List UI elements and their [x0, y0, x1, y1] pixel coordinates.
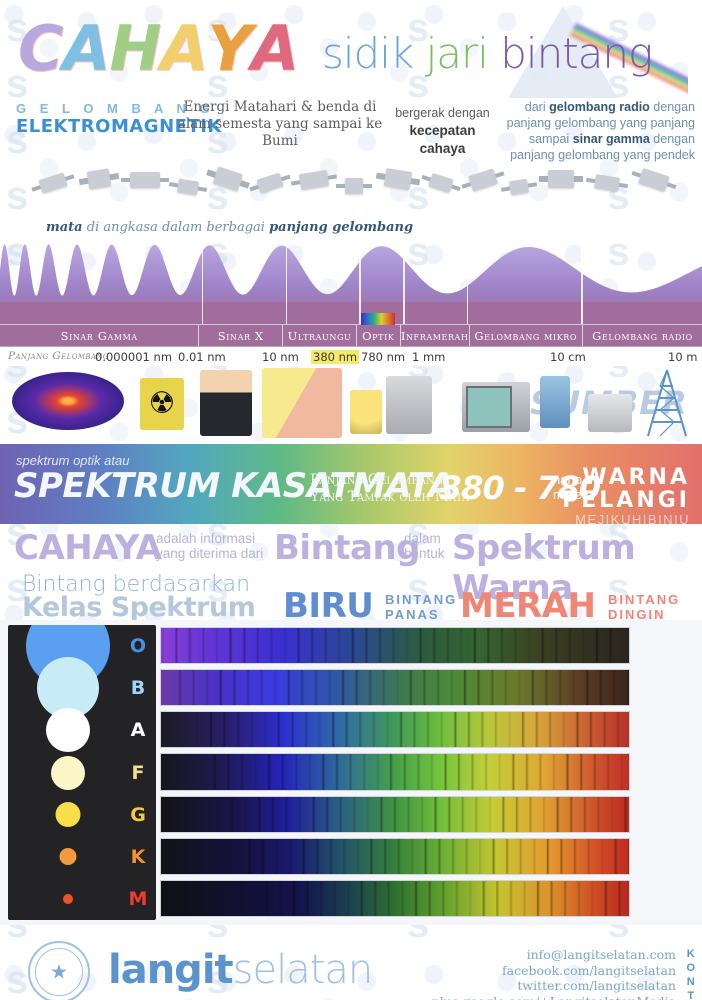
contact-line[interactable]: info@langitselatan.com	[432, 947, 676, 963]
title-letter: A	[63, 18, 110, 80]
statement-text: dalam	[404, 531, 441, 546]
contact-line[interactable]: twitter.com/langitselatan	[432, 978, 676, 994]
mobile-phone-icon	[540, 376, 570, 428]
statement-text: yang diterima dari	[156, 546, 263, 561]
band-label: Gelombang radio	[592, 329, 693, 343]
spectrum-bar-G	[160, 796, 630, 833]
statement-text: bentuk	[404, 546, 445, 561]
wavelength-scale-title: Panjang Gelombang	[8, 350, 109, 362]
kasat-mejikuhibiniu: MEJIKUHIBINIU	[562, 512, 690, 524]
band-divider-tick	[403, 232, 405, 324]
gamma-sky-map-icon	[12, 372, 124, 430]
spectral-class-label-B: B	[131, 677, 145, 699]
sat-caption-pre: mata	[46, 220, 83, 235]
title-letter: C	[18, 18, 63, 80]
kontak-letter: K	[686, 947, 695, 961]
spectrum-bar-B	[160, 669, 630, 706]
star-size-circle-K	[60, 848, 77, 865]
sources-row: SUMBER ☢	[0, 366, 702, 444]
wave-band-ticks	[0, 224, 702, 324]
spectrum-band-bar: Sinar GammaSinar XUltraunguOptikInframer…	[0, 324, 702, 346]
intro-col4-bold1: gelombang radio	[549, 100, 650, 114]
intro-col4-bold2: sinar gamma	[573, 132, 650, 146]
statement-row-2: Bintang berdasarkanKelas SpektrumBIRUBIN…	[0, 572, 702, 620]
electromagnetic-wave-band	[0, 224, 702, 324]
kasat-rainbow-block: WARNA PELANGI MEJIKUHIBINIU	[562, 466, 690, 524]
satellite-icon	[299, 170, 329, 190]
microwave-oven-icon	[462, 382, 530, 432]
title-letter: Y	[207, 18, 251, 80]
band-divider-tick	[581, 232, 583, 324]
absorption-lines	[161, 712, 629, 747]
statement-text: adalah informasi	[156, 531, 255, 546]
spectrum-bars-panel	[160, 625, 630, 920]
wavelength-tick: 780 nm	[361, 350, 405, 364]
satellite-icon	[87, 168, 112, 189]
wavelength-tick: 10 cm	[550, 350, 586, 364]
title-letter: A	[160, 18, 207, 80]
band-cell-gelombang-mikro: Gelombang mikro	[470, 325, 583, 346]
star-size-circle-G	[56, 802, 81, 827]
contact-list: info@langitselatan.comfacebook.com/langi…	[432, 947, 676, 1000]
band-label: Sinar Gamma	[61, 329, 138, 343]
band-label: Sinar X	[218, 329, 264, 343]
satellite-icon	[130, 172, 160, 188]
kontak-letter: T	[686, 989, 695, 1000]
poster-footer: ★ langitselatan info@langitselatan.comfa…	[0, 925, 702, 1000]
brand-logo: langitselatan	[108, 947, 372, 993]
wavelength-tick: 380 nm	[311, 350, 359, 364]
absorption-lines	[161, 839, 629, 874]
spectral-class-label-A: A	[131, 719, 146, 741]
wavelength-tick: 0.000001 nm	[95, 350, 172, 364]
satellite-icon	[38, 172, 67, 193]
satellite-icon	[638, 168, 670, 192]
intro-col4: dari gelombang radio dengan panjang gelo…	[505, 99, 695, 163]
satellite-icon	[177, 179, 199, 196]
band-divider-tick	[359, 232, 361, 324]
spectrum-bar-A	[160, 711, 630, 748]
infographic-poster: s s s s s s s s s s s s s s s s s s s s …	[0, 0, 702, 1000]
subtitle-word: sidik	[322, 29, 426, 78]
statement-text: BINTANG	[608, 592, 680, 607]
sat-caption-post: panjang gelombang	[269, 220, 413, 235]
radio-receiver-icon	[588, 394, 632, 432]
page-subtitle: sidik jari bintang	[322, 33, 652, 75]
satellite-icon	[384, 168, 412, 190]
wavelength-scale: Panjang Gelombang 0.000001 nm0.01 nm10 n…	[0, 346, 702, 366]
star-size-panel: OBAFGKM	[8, 625, 156, 920]
band-cell-sinar-gamma: Sinar Gamma	[0, 325, 199, 346]
spectral-class-chart: OBAFGKM 50000 K20000 K10000 K7500 K6000 …	[0, 620, 702, 925]
satellite-icon	[213, 166, 243, 191]
title-letter: A	[251, 18, 298, 80]
brand-light: selatan	[233, 947, 373, 993]
wavelength-tick: 1 mm	[412, 350, 445, 364]
satellite-icon	[428, 173, 453, 193]
subtitle-word: bintang	[500, 29, 652, 78]
statement-text: Bintang	[274, 528, 420, 568]
band-divider-tick	[467, 232, 469, 324]
band-divider-tick	[202, 232, 204, 324]
band-cell-gelombang-radio: Gelombang radio	[583, 325, 702, 346]
statement-text: Kelas Spektrum	[22, 592, 255, 623]
sunlight-uv-woman-icon	[262, 368, 342, 438]
statement-text: BINTANG	[385, 592, 457, 607]
intro-col3-line2: kecepatan cahaya	[409, 123, 475, 156]
band-divider-tick	[286, 232, 288, 324]
satellite-icon	[594, 174, 620, 192]
wavelength-tick: 10 m	[668, 350, 698, 364]
satellites-caption: mata di angkasa dalam berbagai panjang g…	[46, 220, 413, 235]
satellite-icon	[256, 173, 283, 194]
band-label: Ultraungu	[288, 329, 352, 343]
wavelength-tick: 10 nm	[262, 350, 299, 364]
satellite-icon	[468, 168, 498, 191]
absorption-lines	[161, 670, 629, 705]
band-cell-inframerah: Inframerah	[401, 325, 470, 346]
intro-col2: Energi Matahari & benda di alam semesta …	[175, 99, 385, 150]
spectrum-bar-M	[160, 880, 630, 917]
subtitle-word: jari	[426, 29, 501, 78]
title-letter: H	[110, 18, 161, 80]
band-cell-ultraungu: Ultraungu	[283, 325, 357, 346]
kasat-warna-line2: PELANGI	[562, 489, 690, 512]
kontak-letter: O	[686, 961, 695, 975]
optical-color-chip	[361, 313, 395, 325]
kontak-label: KONTAK	[686, 947, 695, 1000]
band-cell-sinar-x: Sinar X	[199, 325, 283, 346]
intro-col3: bergerak dengan kecepatan cahaya	[385, 105, 500, 158]
spectral-class-label-K: K	[131, 846, 146, 868]
statement-row-1: CAHAYAadalah informasiyang diterima dari…	[0, 524, 702, 572]
intro-row: G E L O M B A N G ELEKTROMAGNETIK Energi…	[0, 95, 702, 170]
radiation-hazard-icon: ☢	[140, 378, 184, 430]
contact-line[interactable]: plus.google.com/+LangitselatanMedia	[432, 994, 676, 1000]
page-title: CAHAYA	[18, 18, 298, 80]
band-cell-optik: Optik	[357, 325, 401, 346]
satellites-strip: mata di angkasa dalam berbagai panjang g…	[0, 170, 702, 230]
satellite-icon	[548, 170, 574, 188]
satellite-icon	[509, 179, 529, 196]
spectral-class-label-G: G	[130, 804, 146, 826]
wavelength-tick: 0.01 nm	[178, 350, 226, 364]
visible-spectrum-banner: spektrum optik atau SPEKTRUM KASATMATA P…	[0, 444, 702, 524]
absorption-lines	[161, 628, 629, 663]
statement-text: CAHAYA	[14, 528, 161, 568]
radio-tower-icon	[640, 368, 694, 438]
star-size-circle-F	[51, 756, 85, 790]
star-size-circle-A	[46, 708, 90, 752]
kasat-warna-line1: WARNA	[562, 466, 690, 489]
spectrum-bar-O	[160, 627, 630, 664]
spectral-class-label-F: F	[132, 762, 145, 784]
poster-header: CAHAYA sidik jari bintang	[0, 0, 702, 95]
xray-child-icon	[200, 370, 252, 436]
spectral-class-label-M: M	[129, 888, 148, 910]
absorption-lines	[161, 881, 629, 916]
brand-bold: langit	[108, 947, 233, 993]
satellite-icon	[345, 178, 363, 194]
intro-col3-line1: bergerak dengan	[385, 105, 500, 122]
absorption-lines	[161, 797, 629, 832]
heater-radiator-icon	[386, 376, 432, 434]
langitselatan-seal-icon: ★	[28, 941, 90, 1000]
contact-line[interactable]: facebook.com/langitselatan	[432, 963, 676, 979]
lightbulb-icon	[350, 390, 382, 434]
band-label: Optik	[362, 329, 394, 343]
kontak-letter: N	[686, 975, 695, 989]
spectrum-bar-K	[160, 838, 630, 875]
band-label: Inframerah	[401, 329, 469, 343]
spectrum-bar-F	[160, 753, 630, 790]
spectral-class-label-O: O	[130, 635, 146, 657]
band-label: Gelombang mikro	[474, 329, 577, 343]
star-size-circle-M	[63, 894, 73, 904]
absorption-lines	[161, 754, 629, 789]
